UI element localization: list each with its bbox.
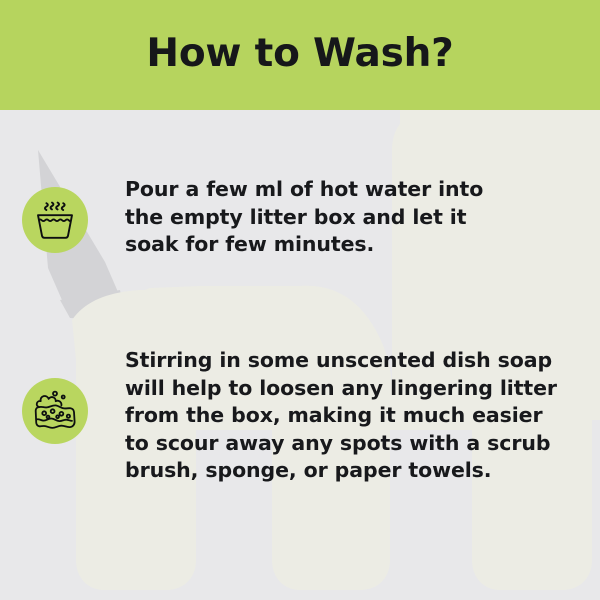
page-title: How to Wash? (146, 34, 453, 77)
step-2-icon-badge (22, 378, 88, 444)
header-band: How to Wash? (0, 0, 600, 110)
steps-list: Pour a few ml of hot water into the empt… (0, 110, 600, 600)
step-item: Stirring in some unscented dish soap wil… (22, 347, 562, 485)
wash-basin-hot-water-icon (33, 199, 77, 241)
step-1-icon-badge (22, 187, 88, 253)
step-1-text: Pour a few ml of hot water into the empt… (125, 176, 525, 259)
step-item: Pour a few ml of hot water into the empt… (22, 176, 562, 259)
step-2-text: Stirring in some unscented dish soap wil… (125, 347, 562, 485)
sponge-suds-icon (33, 389, 77, 433)
how-to-wash-infographic: How to Wash? (0, 0, 600, 600)
